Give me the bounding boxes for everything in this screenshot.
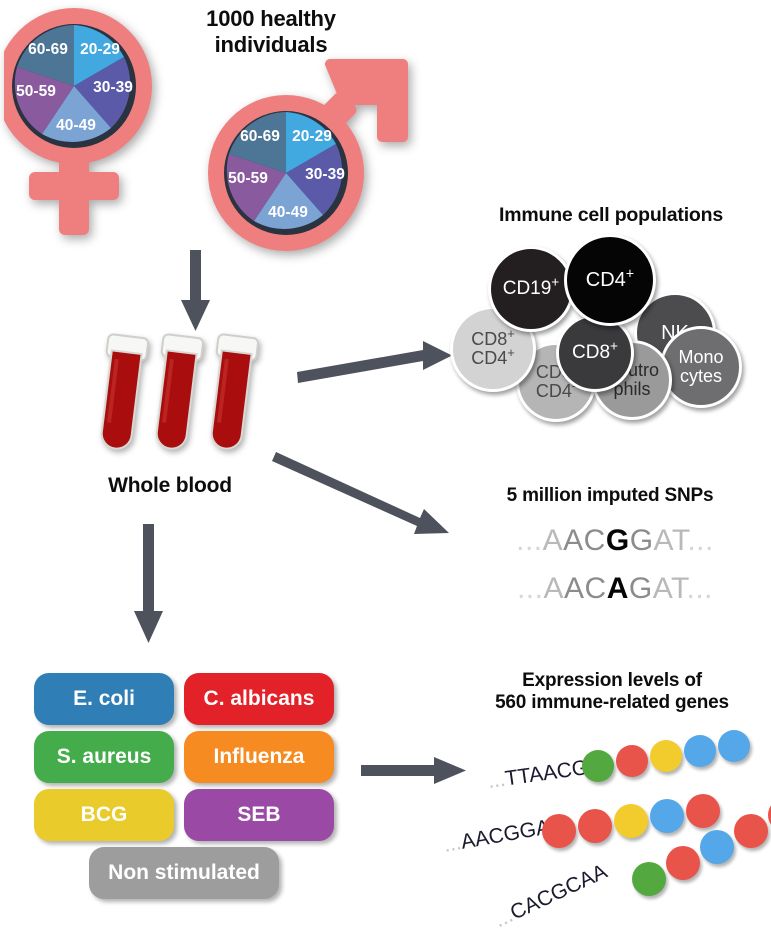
immune-cell-cluster: CD19+CD4+CD8+NKCD8+CD4+CD8-CD4-Neutrophi…: [452, 232, 768, 412]
arrow-blood-to-immune-cells: [297, 341, 452, 383]
stimulus-label: SEB: [237, 803, 280, 827]
gene-bead: [582, 750, 614, 782]
stimulus-label: BCG: [81, 803, 128, 827]
gene-bead: [614, 804, 648, 838]
gene-bead: [650, 740, 682, 772]
immune-cell-populations-title: Immune cell populations: [455, 204, 767, 227]
snp-sequence-1: ...AACGGAT...: [470, 524, 760, 558]
snps-title: 5 million imputed SNPs: [460, 485, 760, 507]
stimulus-label: E. coli: [73, 687, 135, 711]
stimulus-label: Non stimulated: [108, 861, 260, 885]
stimulus-s-aureus[interactable]: S. aureus: [34, 731, 174, 783]
blood-tube: [150, 334, 203, 451]
stimulus-seb[interactable]: SEB: [184, 789, 334, 841]
stimulus-e-coli[interactable]: E. coli: [34, 673, 174, 725]
gene-bead: [718, 730, 750, 762]
gene-bead: [632, 862, 666, 896]
gene-bead: [650, 799, 684, 833]
expression-title-line1: Expression levels of: [455, 670, 769, 692]
snp-sequence-2: ...AACAGAT...: [470, 572, 760, 606]
gene-bead: [616, 745, 648, 777]
gene-bead: [666, 846, 700, 880]
gene-bead: [578, 809, 612, 843]
stimulus-c-albicans[interactable]: C. albicans: [184, 673, 334, 725]
immune-cell-cd8pos: CD8+: [556, 314, 634, 392]
immune-cell-cd4: CD4+: [564, 234, 656, 326]
blood-tube: [95, 334, 148, 451]
stimulus-label: C. albicans: [204, 687, 315, 711]
stimulus-label: S. aureus: [57, 745, 152, 769]
gene-bead: [700, 830, 734, 864]
expression-bead-group: ...TTAACGG...AACGGAT...CACGCAA: [450, 726, 771, 916]
expression-title-line2: 560 immune-related genes: [455, 692, 769, 714]
stimulus-influenza[interactable]: Influenza: [184, 731, 334, 783]
figure-canvas: 1000 healthy individuals 20-29 30-39 40-…: [0, 0, 771, 922]
expression-title: Expression levels of 560 immune-related …: [455, 670, 769, 715]
gene-bead: [686, 794, 720, 828]
stimulus-label: Influenza: [213, 745, 304, 769]
arrow-blood-to-stimuli: [134, 524, 163, 643]
stimuli-group: E. coliC. albicansS. aureusInfluenzaBCGS…: [34, 673, 334, 893]
whole-blood-label: Whole blood: [70, 474, 270, 499]
gene-bead: [684, 735, 716, 767]
stimulus-non-stimulated[interactable]: Non stimulated: [89, 847, 279, 899]
arrow-blood-to-snps: [272, 452, 449, 534]
blood-tubes-group: [95, 330, 295, 470]
gene-bead: [734, 814, 768, 848]
immune-cell-cd19: CD19+: [488, 246, 574, 332]
blood-tube: [205, 334, 258, 451]
immune-cell-monocytes: Monocytes: [660, 326, 742, 408]
arrow-cohort-to-blood: [181, 250, 210, 331]
gene-bead: [542, 814, 576, 848]
snp-sequence-group: ...AACGGAT......AACAGAT...: [470, 524, 760, 624]
stimulus-bcg[interactable]: BCG: [34, 789, 174, 841]
